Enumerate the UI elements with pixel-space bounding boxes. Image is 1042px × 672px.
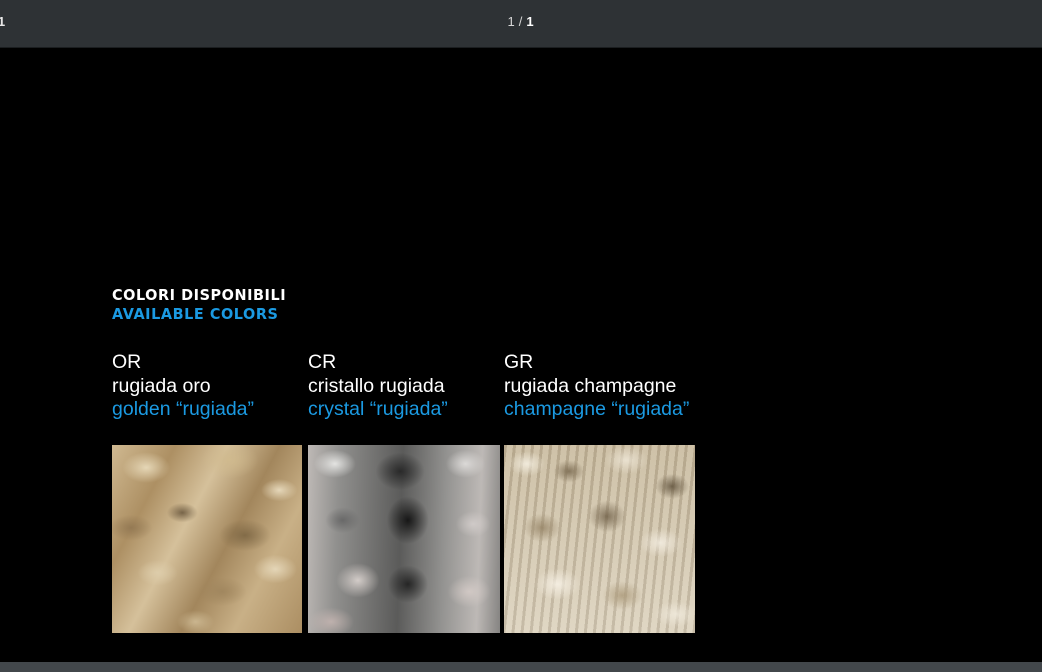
document-page: COLORI DISPONIBILI AVAILABLE COLORS OR r… bbox=[0, 48, 1042, 662]
slide-headings: COLORI DISPONIBILI AVAILABLE COLORS bbox=[112, 286, 299, 324]
color-name-italian: cristallo rugiada bbox=[308, 375, 500, 399]
color-option-gr: GR rugiada champagne champagne “rugiada” bbox=[504, 351, 696, 422]
color-name-italian: rugiada champagne bbox=[504, 375, 696, 399]
heading-english: AVAILABLE COLORS bbox=[112, 305, 286, 324]
golden-marble-swatch bbox=[112, 445, 302, 633]
crystal-marble-swatch bbox=[308, 445, 500, 633]
champagne-marble-swatch bbox=[504, 445, 695, 633]
color-option-or: OR rugiada oro golden “rugiada” bbox=[112, 351, 302, 422]
heading-italian: COLORI DISPONIBILI bbox=[112, 286, 286, 305]
marble-texture bbox=[504, 445, 695, 633]
color-code: OR bbox=[112, 351, 302, 375]
page-total: 1 bbox=[526, 14, 534, 29]
pdf-viewer: out 1 1/1 COLORI DISPONIBILI AVAILABLE C… bbox=[0, 0, 1042, 672]
color-code: CR bbox=[308, 351, 500, 375]
page-indicator: 1/1 bbox=[0, 14, 1042, 29]
marble-texture bbox=[308, 445, 500, 633]
page-current[interactable]: 1 bbox=[507, 14, 515, 29]
marble-texture bbox=[112, 445, 302, 633]
page-bottom-gutter bbox=[0, 662, 1042, 672]
color-name-english: golden “rugiada” bbox=[112, 398, 302, 422]
color-code: GR bbox=[504, 351, 696, 375]
color-name-italian: rugiada oro bbox=[112, 375, 302, 399]
color-option-cr: CR cristallo rugiada crystal “rugiada” bbox=[308, 351, 500, 422]
page-separator: / bbox=[519, 14, 524, 29]
color-name-english: champagne “rugiada” bbox=[504, 398, 696, 422]
viewer-toolbar: out 1 1/1 bbox=[0, 0, 1042, 48]
color-name-english: crystal “rugiada” bbox=[308, 398, 500, 422]
